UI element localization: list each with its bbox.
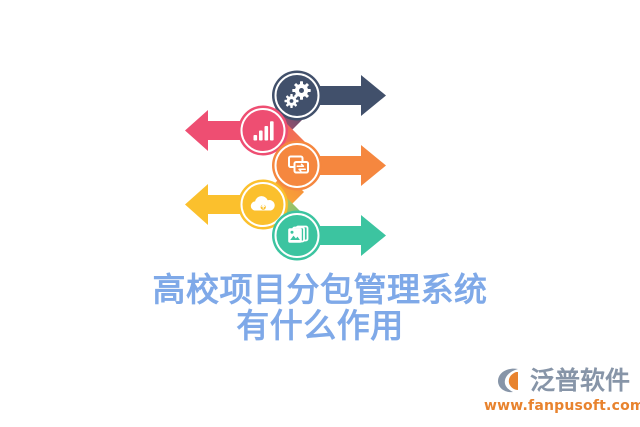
page-title: 高校项目分包管理系统 有什么作用: [0, 272, 640, 343]
image-gallery-icon: [288, 227, 307, 243]
watermark-row: 泛普软件: [484, 363, 630, 397]
node-gallery[interactable]: [272, 211, 322, 261]
fanpu-logo-icon: [494, 364, 526, 396]
infographic-svg: [185, 62, 420, 267]
page-title-line-2: 有什么作用: [0, 308, 640, 344]
watermark-url: www.fanpusoft.com: [484, 398, 630, 414]
watermark: 泛普软件 www.fanpusoft.com: [484, 363, 630, 421]
watermark-brand: 泛普软件: [530, 368, 630, 393]
poster-canvas: 高校项目分包管理系统 有什么作用 泛普软件 www.fanpusoft.com: [0, 0, 640, 427]
page-title-line-1: 高校项目分包管理系统: [0, 272, 640, 308]
infographic-graphic: [185, 62, 420, 267]
node-transfer[interactable]: [272, 141, 322, 191]
